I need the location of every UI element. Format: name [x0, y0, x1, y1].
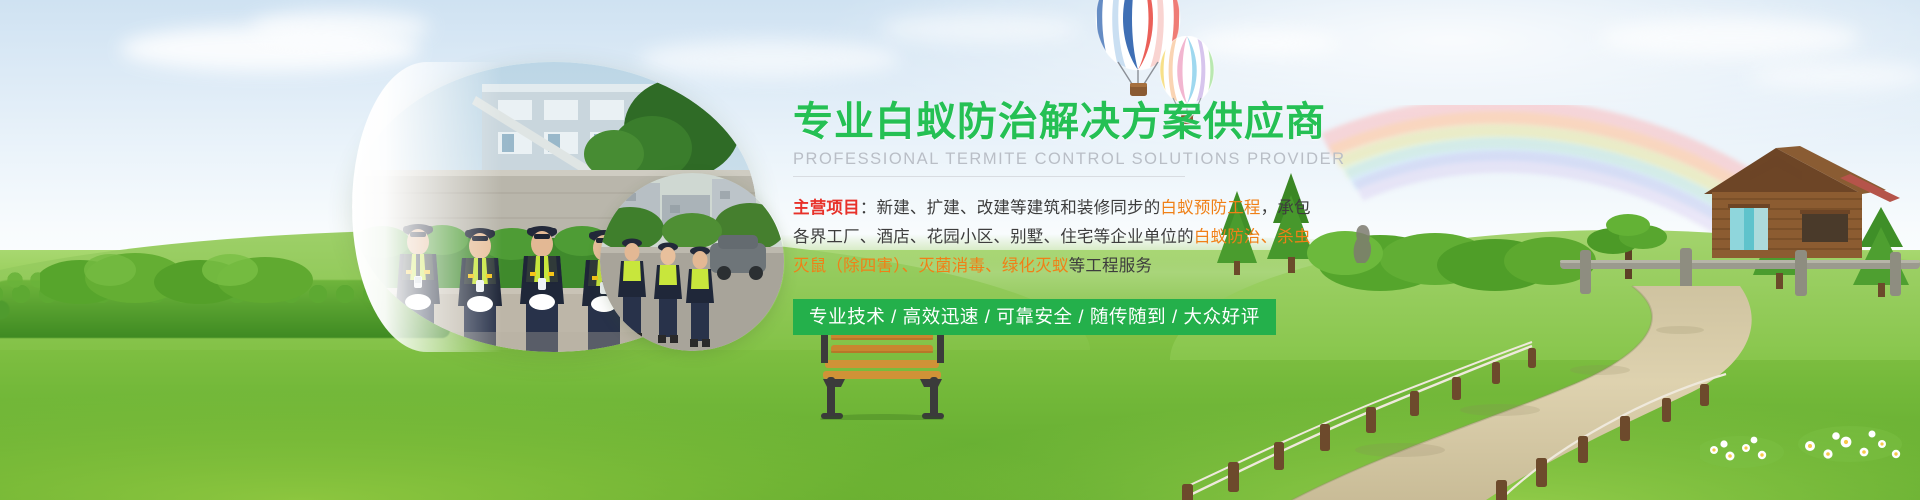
- body-copy: 主营项目：新建、扩建、改建等建筑和装修同步的白蚁预防工程，承包 各界工厂、酒店、…: [793, 194, 1213, 281]
- banner-text-block: 专业白蚁防治解决方案供应商 PROFESSIONAL TERMITE CONTR…: [793, 100, 1803, 335]
- cloud: [1600, 18, 1860, 58]
- text-run-normal: ，承包: [1261, 199, 1311, 217]
- hero-banner: 专业白蚁防治解决方案供应商 PROFESSIONAL TERMITE CONTR…: [0, 0, 1920, 500]
- cloud: [880, 14, 1080, 44]
- team-photo-secondary: [600, 173, 785, 351]
- body-line-1: 主营项目：新建、扩建、改建等建筑和装修同步的白蚁预防工程，承包: [793, 194, 1213, 223]
- text-run-normal: 各界工厂、酒店、花园小区、别墅、住宅等企业单位的: [793, 228, 1194, 246]
- text-run-normal: 等工程服务: [1069, 257, 1153, 275]
- body-line-3: 灭鼠（除四害）、灭菌消毒、绿化灭蚁等工程服务: [793, 252, 1213, 281]
- text-run-red: 主营项目: [793, 199, 860, 217]
- text-run-normal: ：新建、扩建、改建等建筑和装修同步的: [860, 199, 1161, 217]
- text-run-orange: 灭鼠（除四害）、灭菌消毒、绿化灭蚁: [793, 257, 1069, 275]
- text-run-orange: 白蚁预防工程: [1160, 199, 1260, 217]
- cloud: [1750, 62, 1920, 90]
- daisy-patch: [1700, 400, 1920, 480]
- page-subtitle: PROFESSIONAL TERMITE CONTROL SOLUTIONS P…: [793, 150, 1803, 169]
- shrub-cluster-left: [40, 234, 340, 304]
- page-title: 专业白蚁防治解决方案供应商: [793, 100, 1803, 145]
- body-line-2: 各界工厂、酒店、花园小区、别墅、住宅等企业单位的白蚁防治、杀虫: [793, 223, 1213, 252]
- text-run-orange: 白蚁防治、杀虫: [1194, 228, 1311, 246]
- cloud: [640, 40, 900, 78]
- feature-highlights-bar: 专业技术 / 高效迅速 / 可靠安全 / 随传随到 / 大众好评: [793, 299, 1276, 335]
- cloud: [250, 10, 430, 44]
- divider: [793, 176, 1185, 177]
